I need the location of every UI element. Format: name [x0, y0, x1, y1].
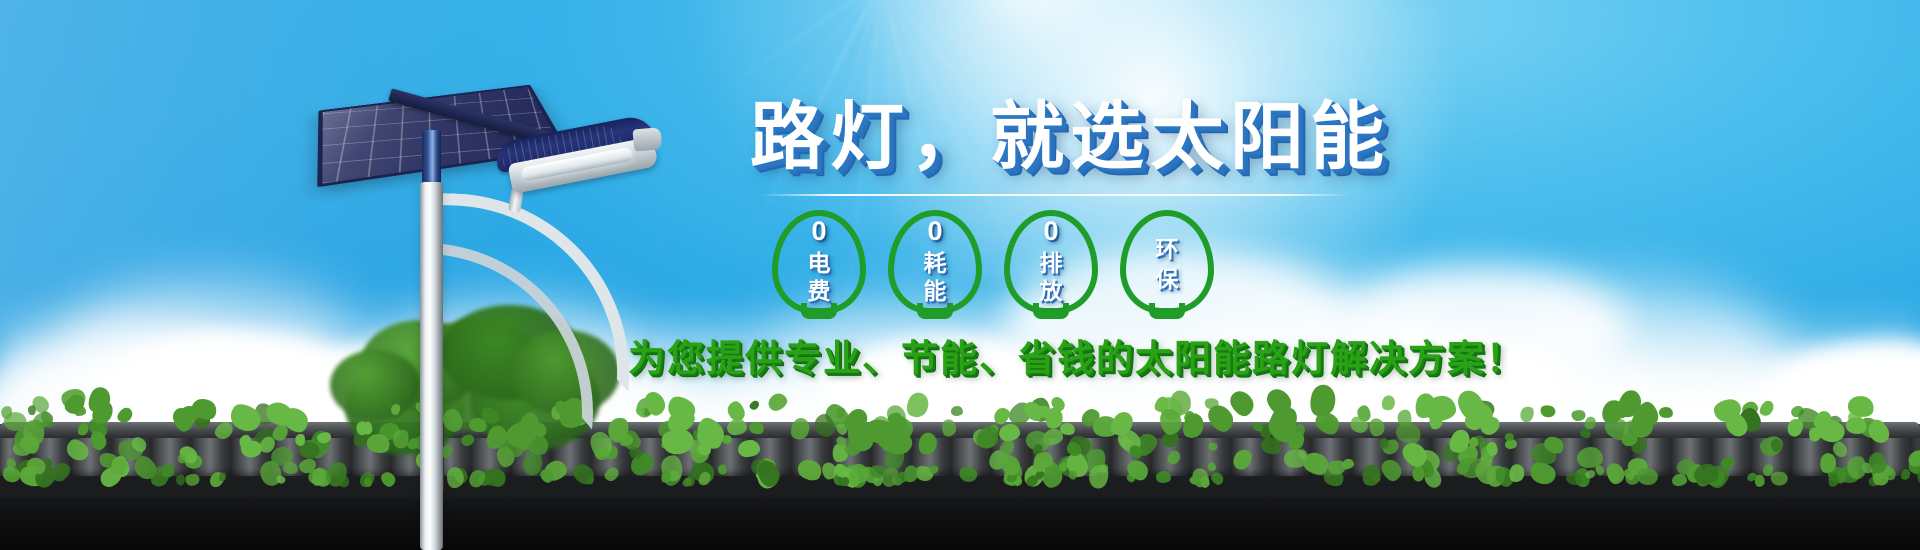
badge-zero: 0	[992, 218, 1110, 245]
feature-badge-row: 0电费0耗能0排放环保	[760, 210, 1360, 320]
headline-divider	[760, 194, 1350, 196]
badge-label-line1: 环	[1108, 238, 1226, 261]
wall-shadow	[0, 498, 1920, 550]
feature-badge: 0排放	[992, 210, 1110, 318]
marketing-text-block: 路灯，就选太阳能 0电费0耗能0排放环保 为您提供专业、节能、省钱的太阳能路灯解…	[600, 78, 1460, 458]
bulb-outline-icon	[1120, 210, 1214, 314]
lamp-pole	[420, 182, 443, 550]
badge-label-line1: 耗	[876, 252, 994, 275]
badge-label-line2: 放	[992, 280, 1110, 303]
feature-badge: 环保	[1108, 210, 1226, 318]
badge-label-line2: 能	[876, 280, 994, 303]
banner-tagline: 为您提供专业、节能、省钱的太阳能路灯解决方案！	[628, 340, 1525, 377]
banner-headline: 路灯，就选太阳能	[750, 100, 1390, 174]
badge-label-line1: 排	[992, 252, 1110, 275]
badge-label-line1: 电	[760, 252, 878, 275]
badge-zero: 0	[760, 218, 878, 245]
feature-badge: 0电费	[760, 210, 878, 318]
solar-street-light-banner: 路灯，就选太阳能 0电费0耗能0排放环保 为您提供专业、节能、省钱的太阳能路灯解…	[0, 0, 1920, 550]
lamp-mast-top	[422, 130, 441, 188]
badge-label-line2: 保	[1108, 268, 1226, 291]
badge-zero: 0	[876, 218, 994, 245]
feature-badge: 0耗能	[876, 210, 994, 318]
badge-label-line2: 费	[760, 280, 878, 303]
